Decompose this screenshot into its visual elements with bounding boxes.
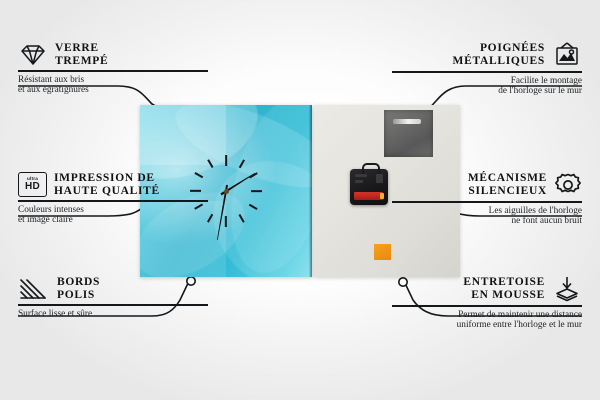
mechanism-hanging-loop bbox=[362, 163, 380, 174]
feature-title: MÉCANISME SILENCIEUX bbox=[468, 172, 547, 197]
ultra-hd-badge-icon: ultra HD bbox=[18, 172, 47, 197]
feature-subtitle: Facilite le montage de l'horloge sur le … bbox=[392, 76, 582, 97]
divider bbox=[18, 304, 208, 306]
divider bbox=[392, 305, 582, 307]
divider bbox=[18, 70, 208, 72]
feature-subtitle: Les aiguilles de l'horloge ne font aucun… bbox=[392, 206, 582, 227]
metal-hanger-plate bbox=[384, 110, 433, 157]
feature-entretoise-en-mousse: ENTRETOISE EN MOUSSE Permet de maintenir… bbox=[392, 276, 582, 331]
divider bbox=[392, 201, 582, 203]
feature-title: ENTRETOISE EN MOUSSE bbox=[463, 276, 545, 301]
silent-quartz-mechanism bbox=[350, 169, 388, 205]
clock-center-pin bbox=[224, 189, 229, 194]
divider bbox=[18, 200, 208, 202]
battery-positive-cap bbox=[380, 193, 384, 199]
feature-title: POIGNÉES MÉTALLIQUES bbox=[453, 42, 545, 67]
gear-icon bbox=[554, 172, 582, 198]
polished-edge-icon bbox=[18, 277, 50, 301]
divider bbox=[392, 71, 582, 73]
feature-bords-polis: BORDS POLIS Surface lisse et sûre bbox=[18, 276, 208, 319]
feature-subtitle: Résistant aux bris et aux égratignures bbox=[18, 75, 208, 96]
feature-title: VERRE TREMPÉ bbox=[55, 42, 108, 67]
feature-mecanisme-silencieux: MÉCANISME SILENCIEUX Les aiguilles de l'… bbox=[392, 172, 582, 227]
infographic-canvas: VERRE TREMPÉ Résistant aux bris et aux é… bbox=[0, 0, 600, 400]
feature-subtitle: Surface lisse et sûre bbox=[18, 309, 208, 320]
feature-title: IMPRESSION DE HAUTE QUALITÉ bbox=[54, 172, 160, 197]
clock-battery bbox=[354, 192, 383, 200]
feature-verre-trempe: VERRE TREMPÉ Résistant aux bris et aux é… bbox=[18, 42, 208, 96]
hanging-frame-icon bbox=[552, 42, 582, 68]
feature-title: BORDS POLIS bbox=[57, 276, 100, 301]
hanger-keyhole-slot bbox=[393, 119, 421, 124]
feature-impression-haute-qualite: ultra HD IMPRESSION DE HAUTE QUALITÉ Cou… bbox=[18, 172, 208, 226]
orange-foam-spacer bbox=[374, 244, 391, 260]
foam-spacer-icon bbox=[552, 276, 582, 302]
diamond-icon bbox=[18, 43, 48, 67]
feature-subtitle: Permet de maintenir une distance uniform… bbox=[392, 310, 582, 331]
glass-edge bbox=[309, 105, 312, 277]
feature-poignees-metalliques: POIGNÉES MÉTALLIQUES Facilite le montage… bbox=[392, 42, 582, 97]
feature-subtitle: Couleurs intenses et image claire bbox=[18, 205, 208, 226]
